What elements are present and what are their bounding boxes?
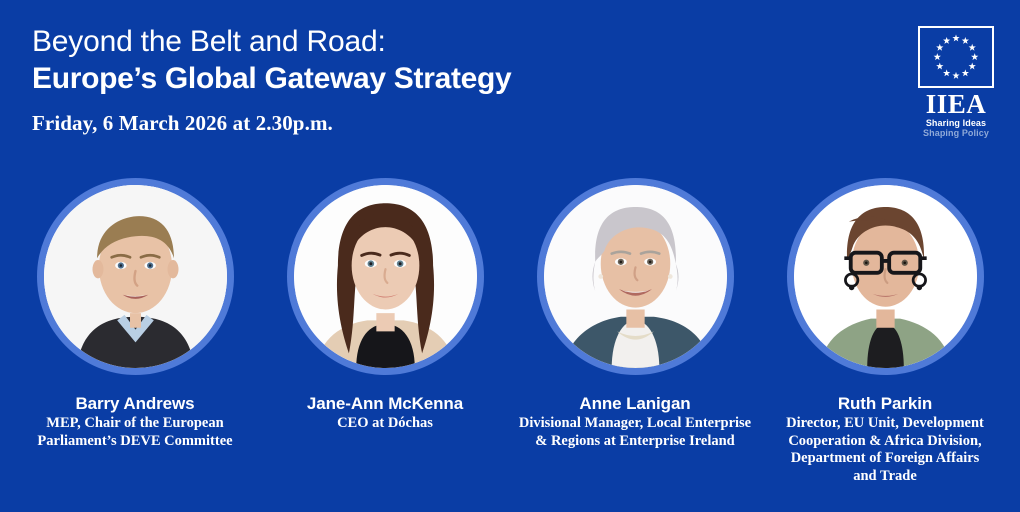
event-date: Friday, 6 March 2026 at 2.30p.m.	[32, 110, 732, 136]
avatar	[537, 178, 734, 375]
eu-stars-box	[918, 26, 994, 88]
speaker-role-line: CEO at Dóchas	[260, 415, 510, 433]
speaker-role: MEP, Chair of the European Parliament’s …	[10, 415, 260, 450]
logo-tagline-2: Shaping Policy	[914, 128, 998, 139]
speaker-role: CEO at Dóchas	[260, 415, 510, 433]
speaker-role-line: Parliament’s DEVE Committee	[10, 433, 260, 451]
title-line-1: Beyond the Belt and Road:	[32, 24, 732, 60]
eu-stars-circle-icon	[920, 28, 992, 86]
speaker-name: Barry Andrews	[10, 393, 260, 414]
speaker-role: Divisional Manager, Local Enterprise & R…	[510, 415, 760, 450]
title-line-2: Europe’s Global Gateway Strategy	[32, 60, 732, 98]
jane-ann-mckenna-portrait	[294, 185, 477, 368]
speaker-role-line: Director, EU Unit, Development	[760, 415, 1010, 433]
speaker-name: Anne Lanigan	[510, 393, 760, 414]
speaker-role-line: Department of Foreign Affairs	[760, 450, 1010, 468]
logo-wordmark: IIEA	[914, 90, 998, 118]
avatar-photo-clip	[44, 185, 227, 368]
speaker-portrait-0	[10, 178, 260, 375]
speaker-caption-3: Ruth Parkin Director, EU Unit, Developme…	[760, 393, 1010, 485]
ruth-parkin-portrait	[794, 185, 977, 368]
event-banner: Beyond the Belt and Road: Europe’s Globa…	[0, 0, 1020, 512]
speaker-portrait-1	[260, 178, 510, 375]
avatar-photo-clip	[544, 185, 727, 368]
avatar	[287, 178, 484, 375]
avatar-photo-clip	[794, 185, 977, 368]
speaker-portrait-2	[510, 178, 760, 375]
logo-tagline-1: Sharing Ideas	[914, 118, 998, 128]
avatar-photo-clip	[294, 185, 477, 368]
speaker-portraits-row	[0, 178, 1020, 378]
speaker-portrait-3	[760, 178, 1010, 375]
iiea-logo: IIEA Sharing Ideas Shaping Policy	[914, 26, 998, 139]
speaker-role-line: Cooperation & Africa Division,	[760, 433, 1010, 451]
speaker-caption-0: Barry Andrews MEP, Chair of the European…	[10, 393, 260, 450]
speaker-role: Director, EU Unit, Development Cooperati…	[760, 415, 1010, 485]
speaker-role-line: and Trade	[760, 468, 1010, 486]
avatar	[787, 178, 984, 375]
speaker-role-line: Divisional Manager, Local Enterprise	[510, 415, 760, 433]
speaker-caption-1: Jane-Ann McKenna CEO at Dóchas	[260, 393, 510, 433]
avatar	[37, 178, 234, 375]
header-block: Beyond the Belt and Road: Europe’s Globa…	[32, 24, 732, 136]
anne-lanigan-portrait	[544, 185, 727, 368]
speaker-role-line: MEP, Chair of the European	[10, 415, 260, 433]
speaker-role-line: & Regions at Enterprise Ireland	[510, 433, 760, 451]
speaker-name: Ruth Parkin	[760, 393, 1010, 414]
barry-andrews-portrait	[44, 185, 227, 368]
speaker-name: Jane-Ann McKenna	[260, 393, 510, 414]
speaker-caption-2: Anne Lanigan Divisional Manager, Local E…	[510, 393, 760, 450]
